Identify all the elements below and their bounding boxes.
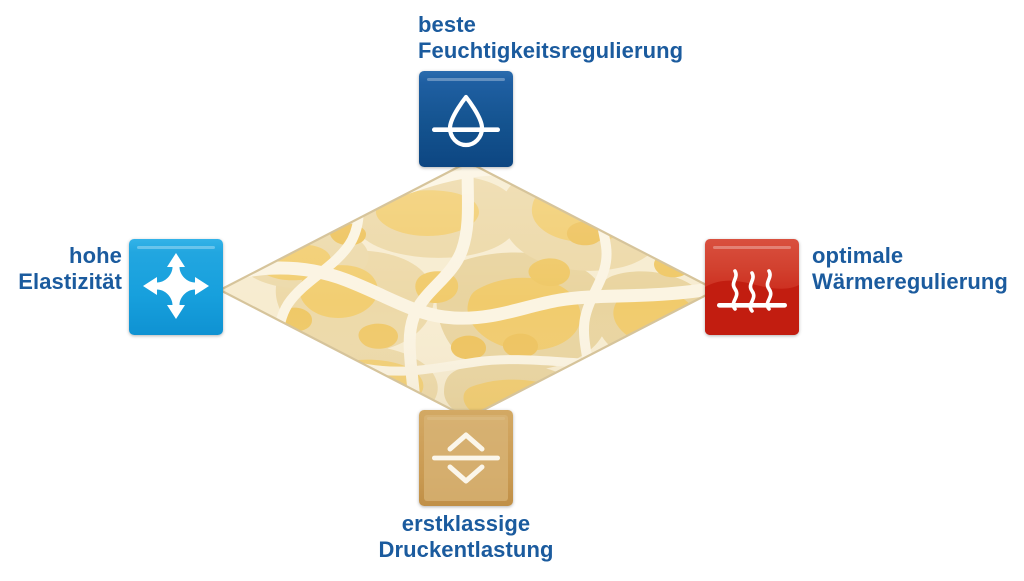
water-drop-icon[interactable] bbox=[419, 71, 513, 167]
heat-waves-icon[interactable] bbox=[705, 239, 799, 335]
label-moisture: beste Feuchtigkeitsregulierung bbox=[418, 12, 683, 63]
infographic-canvas: beste Feuchtigkeitsregulierung hohe Elas… bbox=[0, 0, 1024, 581]
foam-cell-structure-diamond bbox=[218, 160, 718, 420]
label-warmth: optimale Wärmeregulierung bbox=[812, 243, 1008, 294]
label-elasticity: hohe Elastizität bbox=[0, 243, 122, 294]
foam-texture bbox=[218, 160, 718, 420]
label-pressure: erstklassige Druckentlastung bbox=[306, 511, 626, 562]
up-down-chevron-icon[interactable] bbox=[419, 410, 513, 506]
four-way-arrow-icon[interactable] bbox=[129, 239, 223, 335]
